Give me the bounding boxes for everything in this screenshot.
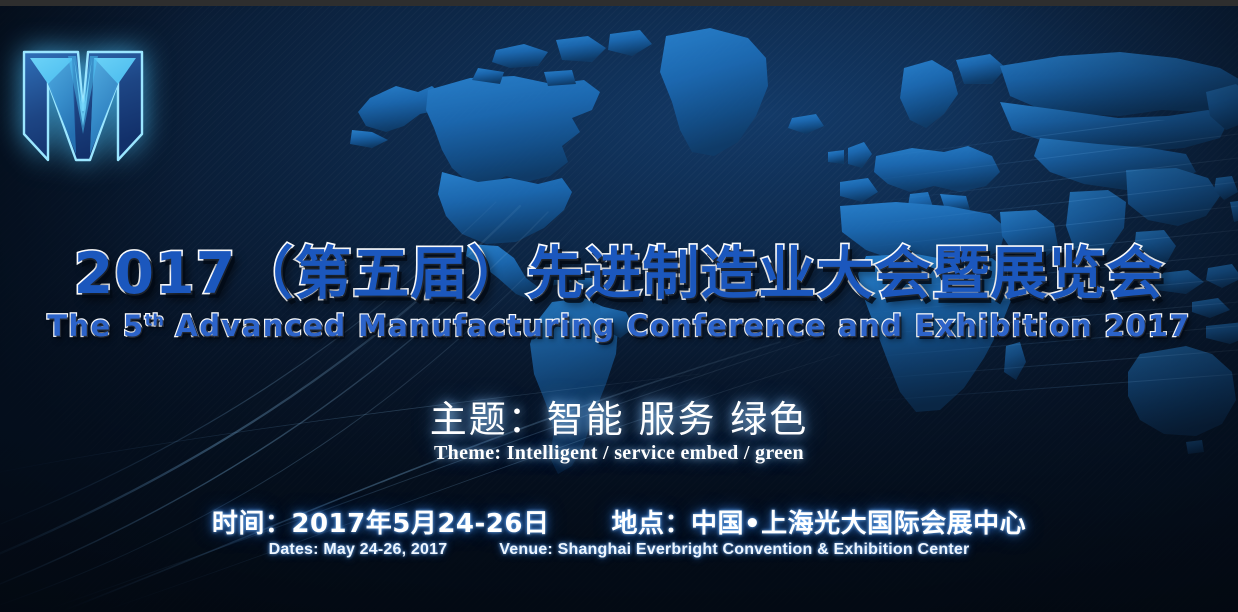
venue-label-english: Venue: Shanghai Everbright Convention & … — [499, 541, 969, 558]
date-label-chinese: 时间：2017年5月24-26日 — [212, 509, 550, 539]
title-english-prefix: The 5 — [47, 309, 144, 343]
banner-content: 2017（第五届）先进制造业大会暨展览会 The 5th Advanced Ma… — [0, 6, 1238, 612]
event-info-chinese: 时间：2017年5月24-26日地点：中国•上海光大国际会展中心 — [0, 503, 1238, 540]
theme-chinese: 主题：智能 服务 绿色 — [0, 389, 1238, 443]
title-english-suffix: Advanced Manufacturing Conference and Ex… — [164, 309, 1191, 343]
event-info-english: Dates: May 24-26, 2017Venue: Shanghai Ev… — [0, 541, 1238, 559]
conference-banner: 2017（第五届）先进制造业大会暨展览会 The 5th Advanced Ma… — [0, 0, 1238, 612]
title-english-ordinal: th — [145, 310, 164, 329]
top-strip — [0, 0, 1238, 6]
venue-label-chinese: 地点：中国•上海光大国际会展中心 — [611, 509, 1026, 539]
theme-english: Theme: Intelligent / service embed / gre… — [0, 442, 1238, 465]
date-label-english: Dates: May 24-26, 2017 — [269, 541, 448, 558]
page-title-chinese: 2017（第五届）先进制造业大会暨展览会 — [0, 228, 1238, 310]
page-title-english: The 5th Advanced Manufacturing Conferenc… — [0, 309, 1238, 343]
